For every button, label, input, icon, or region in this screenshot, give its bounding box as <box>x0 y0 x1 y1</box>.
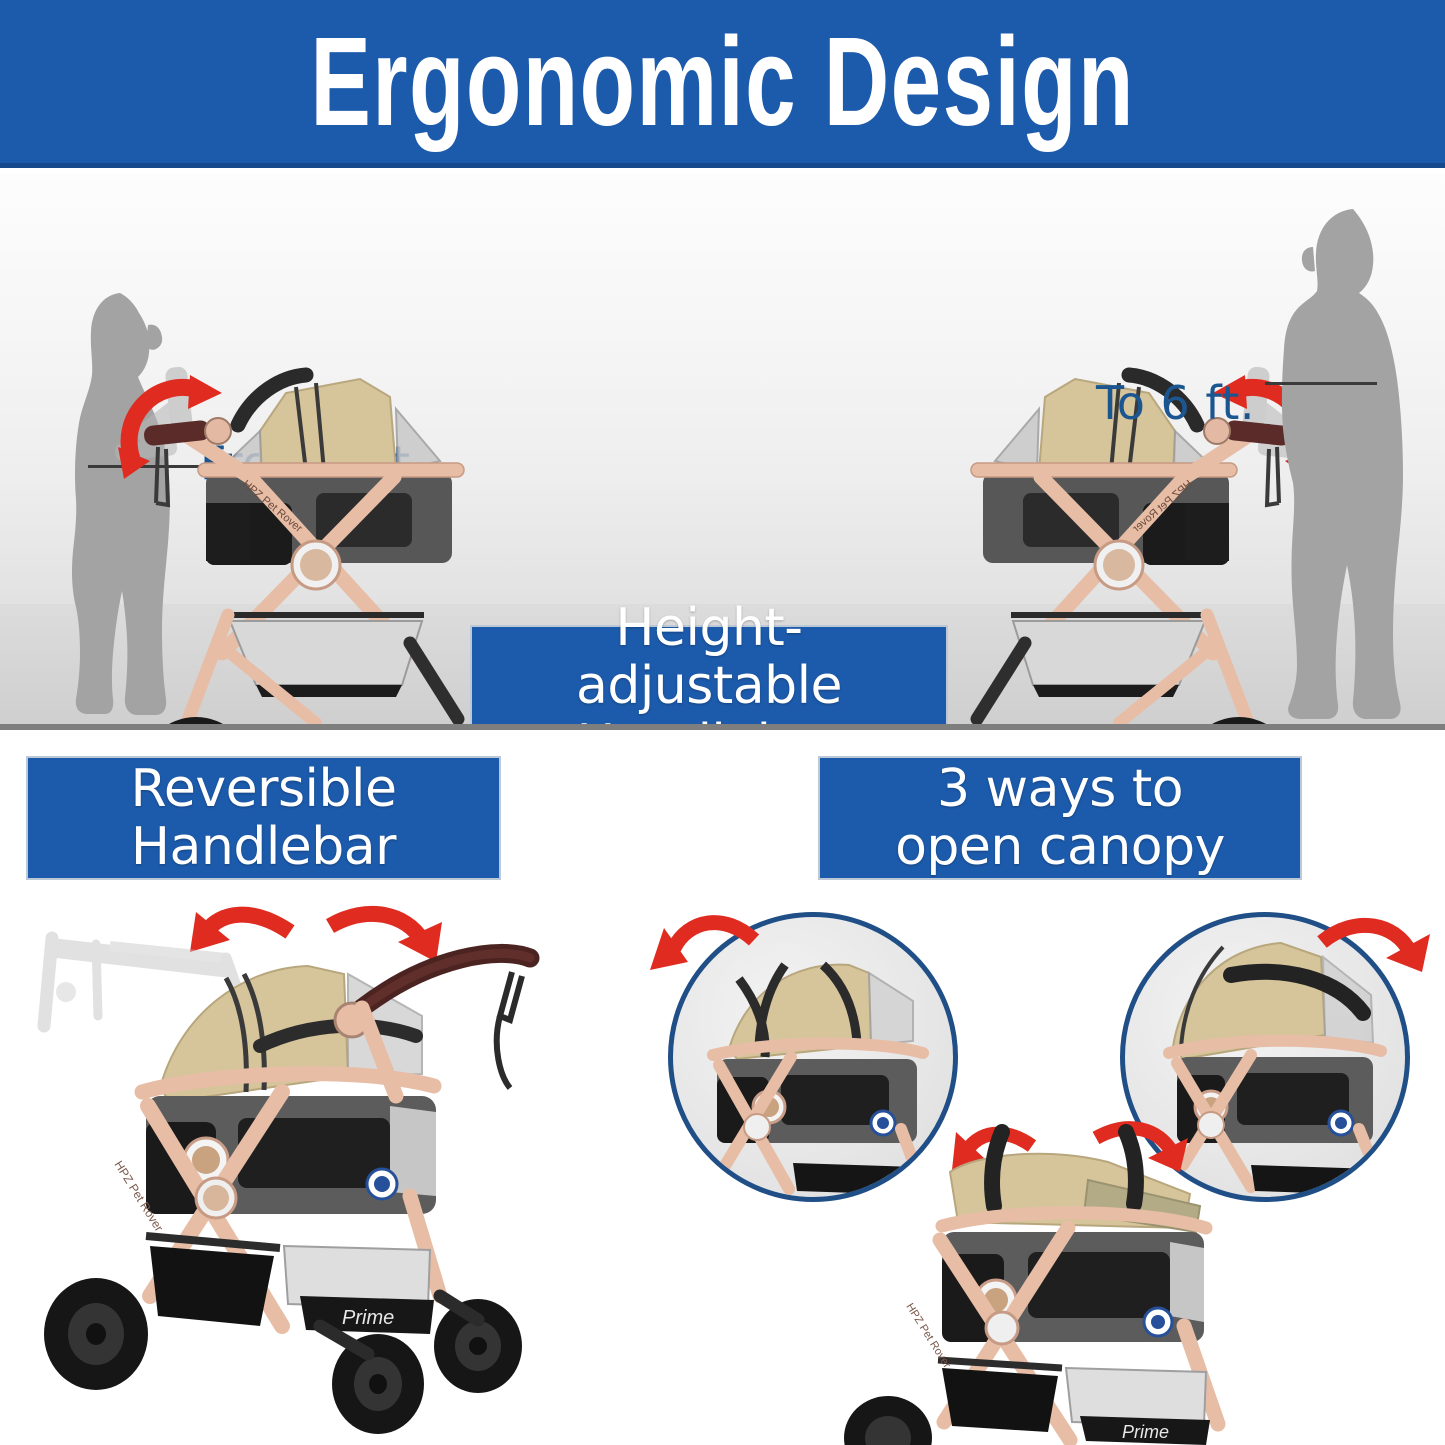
bottom-features-section: Reversible Handlebar 3 ways to open cano… <box>0 736 1445 1445</box>
right-height-label: To 6 ft. <box>1096 376 1255 430</box>
man-silhouette <box>1275 203 1425 725</box>
prime-logo-text-2: Prime <box>1122 1422 1169 1442</box>
feature-line-2: Handlebar <box>131 818 397 876</box>
feature-text: 3 ways to open canopy <box>877 754 1243 882</box>
prime-logo-text: Prime <box>342 1307 394 1329</box>
canopy-arrow-2 <box>1310 904 1440 1014</box>
header-banner: Ergonomic Design <box>0 0 1445 168</box>
stroller-reversible: Prime HPZ Pet Rover <box>30 896 550 1441</box>
height-adjustable-handlebar-label: Height-adjustable Handlebar <box>470 625 948 730</box>
right-height-line <box>1265 382 1377 385</box>
feature-line-1: Height-adjustable <box>490 599 928 715</box>
canopy-arrow-1 <box>644 904 774 1014</box>
feature-text: Height-adjustable Handlebar <box>472 593 946 730</box>
feature-line-1: Reversible <box>131 760 397 818</box>
page-title: Ergonomic Design <box>310 19 1135 145</box>
feature-line-2: Handlebar <box>490 715 928 730</box>
open-canopy-label: 3 ways to open canopy <box>818 756 1302 880</box>
feature-text: Reversible Handlebar <box>113 754 415 882</box>
feature-line-2: open canopy <box>895 818 1225 876</box>
stroller-canopy-open: Prime HPZ Pet Rover <box>840 1110 1310 1445</box>
stroller-left: HPZ Pet Rover <box>110 353 530 730</box>
feature-line-1: 3 ways to <box>895 760 1225 818</box>
height-adjustable-section: From 5 ft. <box>0 173 1445 730</box>
reversible-handlebar-label: Reversible Handlebar <box>26 756 501 880</box>
